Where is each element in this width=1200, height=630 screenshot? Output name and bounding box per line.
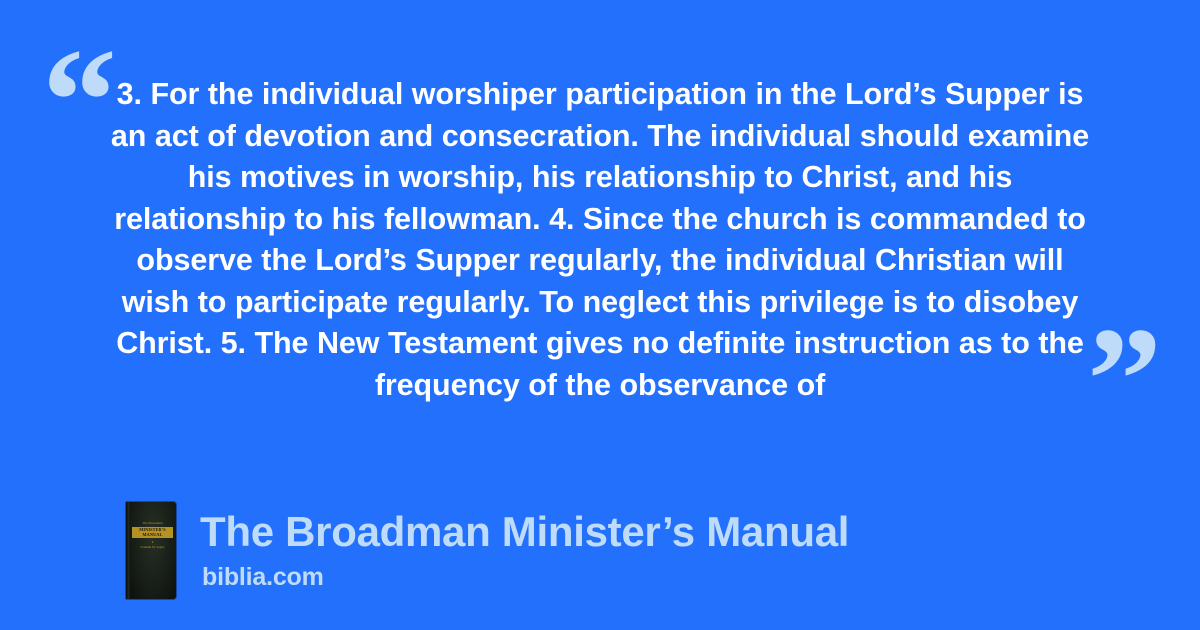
quote-text: 3. For the individual worshiper particip… [100,74,1100,406]
site-name[interactable]: biblia.com [202,562,849,592]
book-cover-thumbnail: The Broadman MINISTER’S MANUAL ♦ Frankli… [126,502,176,599]
cover-publisher-line: The Broadman [132,522,173,526]
cover-title-line: MINISTER’S MANUAL [132,527,173,538]
book-board [130,502,176,599]
book-cover-text: The Broadman MINISTER’S MANUAL ♦ Frankli… [132,522,173,550]
quote-block: 3. For the individual worshiper particip… [100,74,1100,406]
attribution-footer: The Broadman MINISTER’S MANUAL ♦ Frankli… [126,502,849,599]
quote-card: “ 3. For the individual worshiper partic… [0,0,1200,630]
cover-ornament-icon: ♦ [132,541,173,544]
cover-author-line: Franklin M. Segler [132,546,173,550]
book-title: The Broadman Minister’s Manual [200,508,849,556]
closing-quote-icon: ” [1087,305,1162,455]
attribution-text: The Broadman Minister’s Manual biblia.co… [200,502,849,592]
